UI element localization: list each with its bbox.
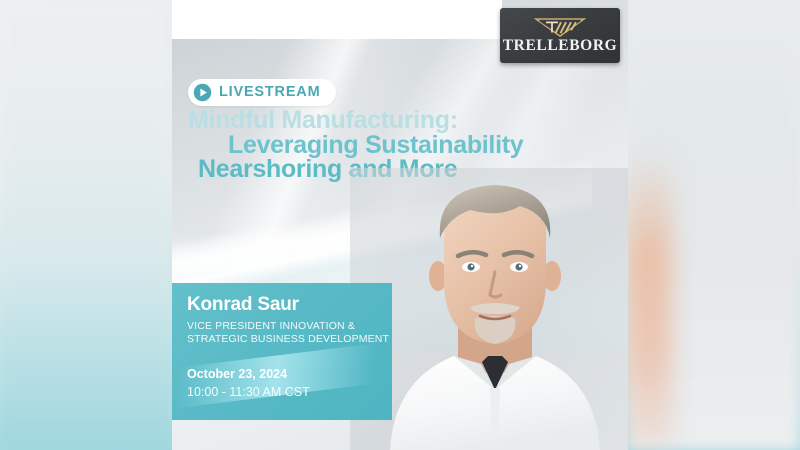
title-line-1: Mindful Manufacturing: [188, 108, 626, 133]
livestream-badge[interactable]: LIVESTREAM [188, 79, 336, 106]
backdrop-left-gradient [0, 0, 172, 450]
title-line-2: Leveraging Sustainability [228, 133, 626, 158]
webinar-promo-card: LIVESTREAM Mindful Manufacturing: Levera… [172, 0, 628, 450]
event-date: October 23, 2024 [187, 367, 392, 383]
card-top-white-band [172, 0, 502, 39]
livestream-label: LIVESTREAM [219, 85, 320, 100]
speaker-info-panel: Konrad Saur VICE PRESIDENT INNOVATION & … [172, 283, 392, 420]
speaker-title-line-2: STRATEGIC BUSINESS DEVELOPMENT [187, 333, 392, 346]
trelleborg-triangle-emblem-icon [534, 17, 586, 37]
trelleborg-logo: TRELLEBORG [500, 8, 620, 63]
event-time: 10:00 - 11:30 AM CST [187, 384, 392, 400]
speaker-title-line-1: VICE PRESIDENT INNOVATION & [187, 320, 392, 333]
speaker-name: Konrad Saur [187, 295, 392, 316]
backdrop-warm-blur-band [626, 150, 672, 450]
play-circle-icon [193, 83, 212, 102]
trelleborg-wordmark: TRELLEBORG [503, 38, 618, 54]
